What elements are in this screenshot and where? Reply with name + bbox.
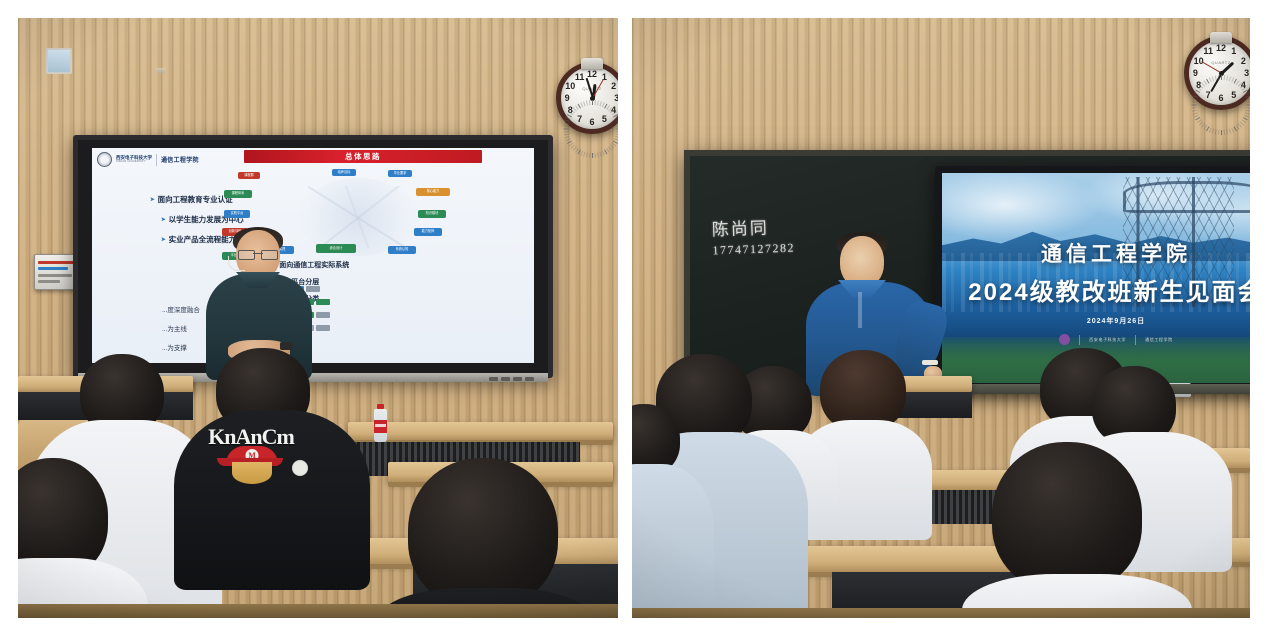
student-shirt-graphic-tee: KnAnCm M <box>174 410 370 590</box>
clock-num-11: 11 <box>1203 46 1213 56</box>
bullet-item: ...度深度融合 <box>162 304 200 314</box>
chalk-name-text: 陈尚同 <box>711 213 794 241</box>
bullet-item: ...一体化设计 <box>162 361 200 363</box>
clock-num-12: 12 <box>587 69 597 79</box>
diagram-node: 能力矩阵 <box>414 228 442 236</box>
tee-badge-icon <box>292 460 308 476</box>
clock-num-12: 12 <box>1216 43 1226 53</box>
student-shirt <box>632 464 714 618</box>
headset-mic-icon <box>228 256 245 271</box>
slide-title-banner: 总体思路 <box>244 150 482 163</box>
photo-collage: QUARTZ 12 1 2 3 4 5 6 7 8 9 10 11 <box>0 0 1268 634</box>
slide-logo: 西安电子科技大学 XIDIAN UNIVERSITY 通信工程学院 <box>97 152 199 167</box>
diagram-node: 综合设计 <box>316 244 356 253</box>
desk-row-2-left <box>348 422 613 440</box>
logo-divider <box>156 154 157 166</box>
slide-date: 2024年9月26日 <box>942 316 1250 326</box>
wristband-icon <box>922 360 938 365</box>
diagram-node: 核心能力 <box>416 188 450 196</box>
diagram-node: 知识模块 <box>418 210 446 218</box>
wall-speaker-icon <box>156 68 166 73</box>
clock-num-2: 2 <box>1241 56 1246 66</box>
bottle-label <box>374 420 387 433</box>
clock-num-3: 3 <box>614 93 618 103</box>
university-name: 西安电子科技大学 XIDIAN UNIVERSITY <box>116 156 152 163</box>
chalk-writing: 陈尚同 17747127282 <box>711 213 795 259</box>
presenter-placket <box>858 292 862 328</box>
student-head <box>408 458 558 608</box>
slide-bullets-bottom: ...度深度融合 ...为主线 ...为支撑 ...一体化设计 <box>122 304 200 363</box>
slide-logos: 西安电子科技大学 通信工程学院 <box>942 334 1250 345</box>
logo-divider <box>1135 335 1136 345</box>
bullet-item: ...为支撑 <box>162 342 200 352</box>
slide-line1: 通信工程学院 <box>942 238 1250 268</box>
university-emblem-icon <box>97 152 112 167</box>
slide-logo-1 <box>1059 334 1070 345</box>
slide-tower-top <box>1123 181 1250 212</box>
diagram-node: 课程群 <box>238 172 260 179</box>
slide-text-block: 通信工程学院 2024级教改班新生见面会 2024年9月26日 西安电子科技大学… <box>942 238 1250 345</box>
clock-num-9: 9 <box>565 93 570 103</box>
diagram-node: 培养目标 <box>332 169 356 176</box>
slide-line2: 2024级教改班新生见面会 <box>942 272 1250 307</box>
tee-face-icon <box>232 462 272 484</box>
wristwatch-icon <box>280 342 293 350</box>
diagram-node: 毕业要求 <box>388 170 412 177</box>
wall-clock-left: QUARTZ 12 1 2 3 4 5 6 7 8 9 10 11 <box>556 62 618 134</box>
clock-num-2: 2 <box>611 81 616 91</box>
right-photo: QUARTZ 12 1 2 3 4 5 6 7 8 9 10 11 陈尚同 17… <box>632 18 1250 618</box>
university-emblem-icon <box>1059 334 1070 345</box>
department-name: 通信工程学院 <box>161 155 199 164</box>
diagram-node: 课程体系 <box>224 190 252 198</box>
slide-logo-2: 西安电子科技大学 <box>1089 334 1126 345</box>
student-head <box>992 442 1142 592</box>
clock-num-3: 3 <box>1244 68 1249 78</box>
chalk-phone-text: 17747127282 <box>712 241 795 259</box>
slide-logo-3: 通信工程学院 <box>1145 334 1173 345</box>
floor-line-right <box>632 608 1250 618</box>
clock-num-9: 9 <box>1193 68 1198 78</box>
water-bottle <box>374 404 387 442</box>
clock-hanger <box>1210 32 1232 43</box>
blackboard: 陈尚同 17747127282 通信工程学院 2024级教改班新生见面会 202… <box>684 150 1250 390</box>
logo-divider <box>1079 335 1080 345</box>
diagram-node: 实践平台 <box>224 210 250 218</box>
clock-num-10: 10 <box>565 81 575 91</box>
wall-clock-right: QUARTZ 12 1 2 3 4 5 6 7 8 9 10 11 <box>1184 36 1250 110</box>
floor-line-left <box>18 604 618 618</box>
clock-num-1: 1 <box>1231 46 1236 56</box>
tee-graphic: KnAnCm M <box>192 424 310 486</box>
display-buttons[interactable] <box>489 377 534 381</box>
left-photo: QUARTZ 12 1 2 3 4 5 6 7 8 9 10 11 <box>18 18 618 618</box>
diagram-node: 系统认知 <box>388 246 416 254</box>
clock-num-11: 11 <box>575 72 585 82</box>
ceiling-ac-vent <box>46 48 72 74</box>
clock-hanger <box>581 58 603 69</box>
bullet-item: ...为主线 <box>162 323 200 333</box>
